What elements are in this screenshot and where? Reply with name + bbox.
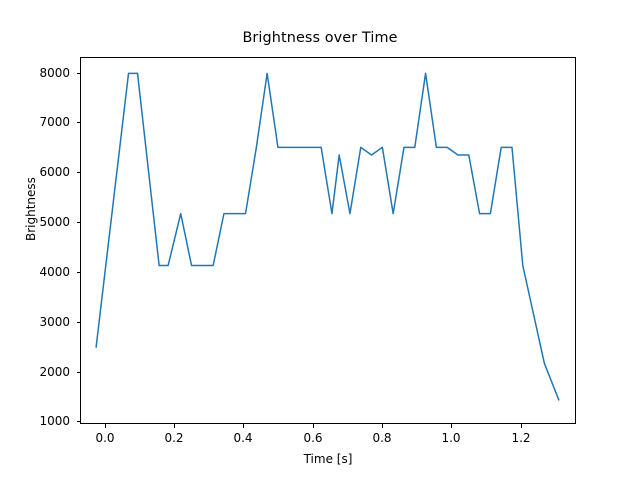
- xtick-mark-0-4: [243, 424, 244, 428]
- xtick-mark-0-0: [105, 424, 106, 428]
- xtick-mark-0-2: [174, 424, 175, 428]
- ytick-mark-4000: [77, 272, 81, 273]
- xtick-label-1-0: 1.0: [441, 431, 460, 445]
- y-axis-label: Brightness: [24, 177, 38, 241]
- line-series-brightness: [81, 58, 575, 423]
- xtick-mark-0-8: [382, 424, 383, 428]
- ytick-mark-8000: [77, 73, 81, 74]
- ytick-mark-3000: [77, 322, 81, 323]
- xtick-label-0-8: 0.8: [372, 431, 391, 445]
- matplotlib-figure: Brightness over Time 8000 7000 6000 5000…: [0, 0, 640, 480]
- xtick-mark-0-6: [313, 424, 314, 428]
- ytick-label-3000: 3000: [30, 315, 70, 329]
- xtick-label-0-0: 0.0: [95, 431, 114, 445]
- chart-title: Brightness over Time: [0, 30, 640, 46]
- ytick-label-1000: 1000: [30, 414, 70, 428]
- xtick-label-0-2: 0.2: [164, 431, 183, 445]
- ytick-label-8000: 8000: [30, 66, 70, 80]
- xtick-mark-1-2: [521, 424, 522, 428]
- xtick-label-0-6: 0.6: [303, 431, 322, 445]
- ytick-mark-6000: [77, 172, 81, 173]
- ytick-mark-5000: [77, 222, 81, 223]
- ytick-label-2000: 2000: [30, 365, 70, 379]
- ytick-label-4000: 4000: [30, 265, 70, 279]
- x-axis-label: Time [s]: [80, 452, 576, 466]
- ytick-mark-1000: [77, 421, 81, 422]
- xtick-mark-1-0: [451, 424, 452, 428]
- xtick-label-0-4: 0.4: [233, 431, 252, 445]
- xtick-label-1-2: 1.2: [511, 431, 530, 445]
- ytick-mark-7000: [77, 122, 81, 123]
- plot-axes-area: [80, 57, 576, 424]
- ytick-mark-2000: [77, 372, 81, 373]
- ytick-label-7000: 7000: [30, 115, 70, 129]
